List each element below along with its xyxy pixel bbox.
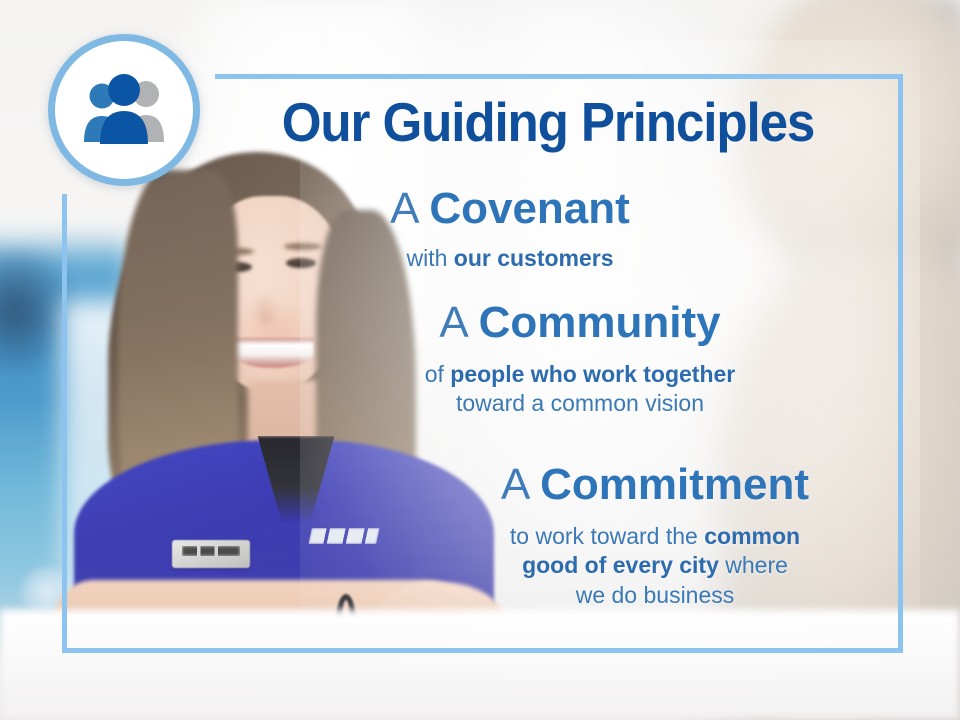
principle-community: A Community of people who work together … <box>340 300 820 419</box>
principle-commitment: A Commitment to work toward the common g… <box>420 462 890 610</box>
principle-commitment-sub-tail-a: where <box>719 552 788 578</box>
principle-commitment-sub-line-3: we do business <box>420 581 890 610</box>
principle-community-sub-part-1: people who work together <box>450 361 735 387</box>
principle-community-keyword: Community <box>479 298 721 347</box>
principle-community-lead: A <box>439 298 478 347</box>
principle-covenant-heading: A Covenant <box>300 186 720 232</box>
copy-block: Our Guiding Principles A Covenant with o… <box>0 0 960 720</box>
principle-commitment-lead: A <box>501 460 540 509</box>
principle-commitment-sub-bold-b: good of every city <box>522 552 719 578</box>
principle-commitment-sub-line-1: to work toward the common <box>420 522 890 551</box>
principle-covenant-keyword: Covenant <box>429 184 629 233</box>
principle-commitment-sub-line-2: good of every city where <box>420 551 890 580</box>
principle-commitment-heading: A Commitment <box>420 462 890 508</box>
principle-covenant-lead: A <box>390 184 429 233</box>
principle-commitment-subtext: to work toward the common good of every … <box>420 522 890 610</box>
principle-community-sub-part-0: of <box>425 361 451 387</box>
guiding-principles-graphic: Our Guiding Principles A Covenant with o… <box>0 0 960 720</box>
principle-community-heading: A Community <box>340 300 820 346</box>
principle-commitment-sub-part-0: to work toward the <box>510 523 704 549</box>
principle-covenant: A Covenant with our customers <box>300 186 720 273</box>
principle-commitment-sub-bold-a: common <box>704 523 800 549</box>
principle-community-subtext: of people who work together toward a com… <box>340 360 820 419</box>
page-title: Our Guiding Principles <box>241 95 855 150</box>
principle-community-sub-line-1: of people who work together <box>340 360 820 389</box>
principle-covenant-subtext: with our customers <box>300 244 720 273</box>
principle-covenant-sub-part-1: our customers <box>454 245 614 271</box>
principle-community-sub-line-2: toward a common vision <box>340 389 820 418</box>
principle-covenant-sub-part-0: with <box>406 245 453 271</box>
principle-commitment-keyword: Commitment <box>540 460 809 509</box>
